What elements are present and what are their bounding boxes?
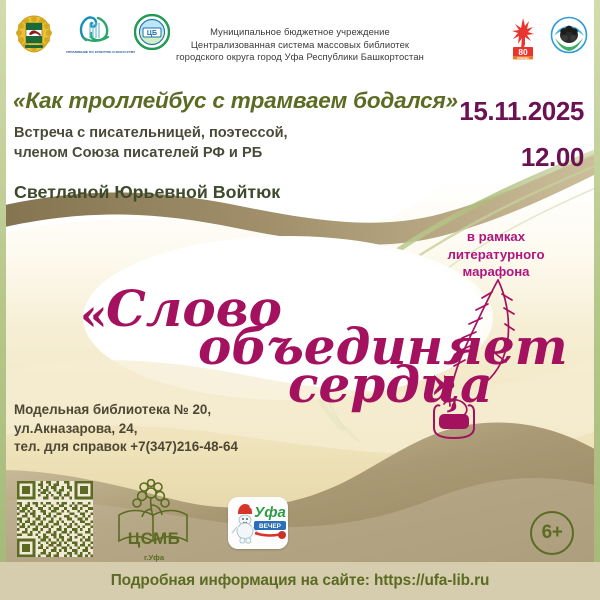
subtitle-line-2: членом Союза писателей РФ и РБ bbox=[14, 144, 344, 164]
age-rating-badge: 6+ bbox=[530, 511, 574, 555]
poster: УПРАВЛЕНИЕ ПО КУЛЬТУРЕ И ИСКУССТВУ ЦБ Му… bbox=[0, 0, 600, 600]
svg-text:ПОБЕДА: ПОБЕДА bbox=[517, 56, 529, 60]
event-title: «Как троллейбус с трамваем бодался» bbox=[13, 88, 453, 114]
literature-emblem-logo bbox=[550, 16, 588, 54]
marathon-line-2: литературного bbox=[406, 246, 586, 264]
slogan-open-quote: « bbox=[80, 290, 108, 341]
venue-info: Модельная библиотека № 20, ул.Акназарова… bbox=[14, 401, 354, 457]
qr-code[interactable] bbox=[17, 481, 93, 557]
footer-website-text[interactable]: Подробная информация на сайте: https://u… bbox=[111, 572, 490, 590]
event-time: 12.00 bbox=[521, 142, 584, 173]
csmb-logo: ЦСМБ г.Уфа bbox=[113, 479, 195, 563]
poster-header: УПРАВЛЕНИЕ ПО КУЛЬТУРЕ И ИСКУССТВУ ЦБ Му… bbox=[0, 0, 600, 86]
svg-text:Уфа: Уфа bbox=[254, 504, 286, 521]
header-logos-right: 80 ПОБЕДА bbox=[508, 16, 588, 60]
ufa-sticker-logo: Уфа ВЕЧЕР bbox=[228, 497, 288, 549]
csmb-name: ЦСМБ bbox=[113, 529, 195, 549]
slogan-calligraphy: « Слово объединяет сердца » bbox=[78, 268, 458, 383]
event-subtitle: Встреча с писательницей, поэтессой, член… bbox=[14, 124, 344, 163]
venue-line-1: Модельная библиотека № 20, bbox=[14, 401, 354, 420]
venue-line-2: ул.Акназарова, 24, bbox=[14, 420, 354, 439]
marathon-line-1: в рамках bbox=[406, 228, 586, 246]
svg-text:ВЕЧЕР: ВЕЧЕР bbox=[259, 523, 282, 530]
victory-80-logo: 80 ПОБЕДА bbox=[508, 16, 538, 60]
quill-pen-icon bbox=[424, 276, 544, 441]
event-date: 15.11.2025 bbox=[459, 96, 584, 127]
csmb-city: г.Уфа bbox=[113, 553, 195, 562]
subtitle-line-1: Встреча с писательницей, поэтессой, bbox=[14, 124, 344, 144]
event-author: Светланой Юрьевной Войтюк bbox=[14, 182, 354, 203]
venue-line-3: тел. для справок +7(347)216-48-64 bbox=[14, 438, 354, 457]
footer-bar: Подробная информация на сайте: https://u… bbox=[0, 562, 600, 600]
